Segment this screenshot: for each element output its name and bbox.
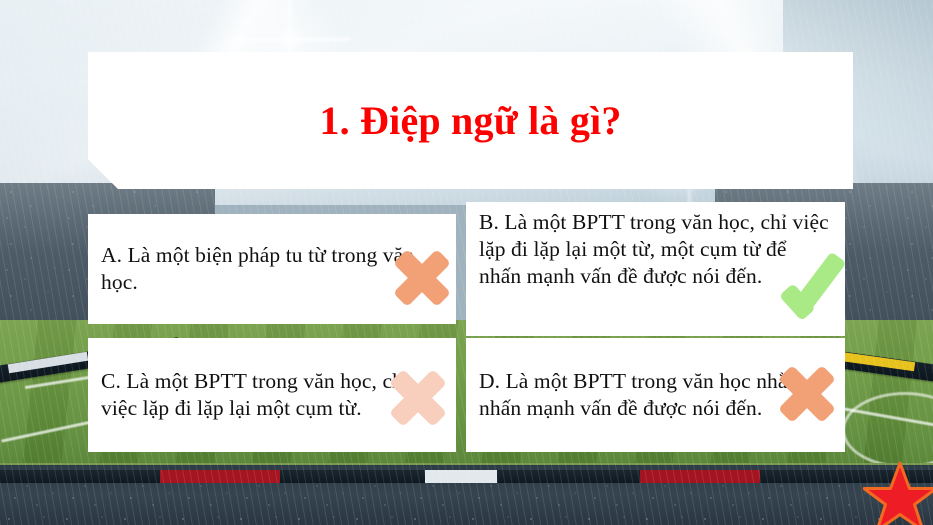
advertising-board-panel: [640, 470, 760, 483]
answer-option-d-text: D. Là một BPTT trong văn học nhằm nhấn m…: [479, 368, 831, 422]
answer-option-c-text: C. Là một BPTT trong văn học, chỉ việc l…: [101, 368, 442, 422]
answer-option-b[interactable]: B. Là một BPTT trong văn học, chỉ việc l…: [466, 202, 845, 336]
advertising-board-panel: [160, 470, 280, 483]
quiz-slide: 1. Điệp ngữ là gì? A. Là một biện pháp t…: [0, 0, 933, 525]
answer-option-a-text: A. Là một biện pháp tu từ trong văn học.: [101, 242, 442, 296]
page-title: 1. Điệp ngữ là gì?: [88, 52, 853, 189]
answer-option-d[interactable]: D. Là một BPTT trong văn học nhằm nhấn m…: [466, 338, 845, 452]
title-banner: 1. Điệp ngữ là gì?: [88, 52, 853, 189]
answer-options-grid: A. Là một biện pháp tu từ trong văn học.…: [88, 214, 845, 452]
answer-option-b-text: B. Là một BPTT trong văn học, chỉ việc l…: [479, 209, 831, 290]
advertising-board-panel: [425, 470, 497, 483]
red-star-icon: [863, 461, 933, 525]
answer-option-a[interactable]: A. Là một biện pháp tu từ trong văn học.: [88, 214, 456, 324]
answer-option-c[interactable]: C. Là một BPTT trong văn học, chỉ việc l…: [88, 338, 456, 452]
